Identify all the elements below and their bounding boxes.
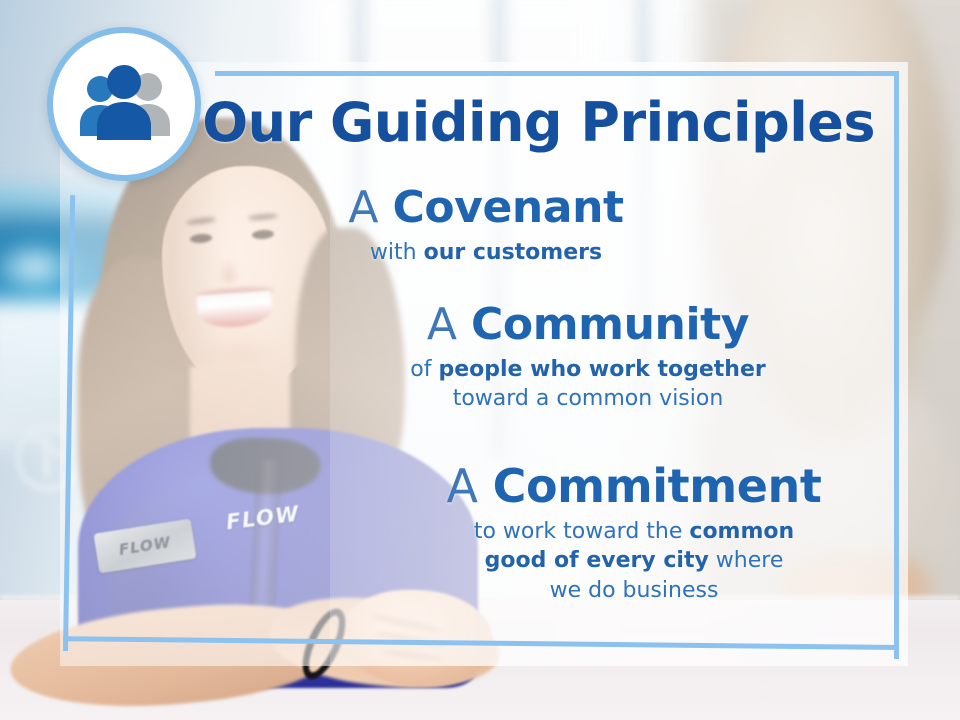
description-line: to work toward the common xyxy=(368,517,900,546)
text-content: Our Guiding Principles A Covenant with o… xyxy=(0,0,960,720)
principle-keyword: Community xyxy=(471,299,749,350)
description-line: with our customers xyxy=(256,238,716,267)
description-line: good of every city where xyxy=(368,546,900,575)
description-segment-bold: common xyxy=(689,519,794,544)
principle-article: A xyxy=(427,299,457,350)
principle-article: A xyxy=(447,459,478,513)
description-segment: of xyxy=(410,357,438,382)
page-title: Our Guiding Principles xyxy=(0,96,875,150)
principle-description: to work toward the common good of every … xyxy=(368,517,900,605)
principle-description: with our customers xyxy=(256,238,716,267)
principle-commitment: A Commitment to work toward the common g… xyxy=(368,462,900,605)
principle-article: A xyxy=(348,182,378,233)
principle-headline: A Commitment xyxy=(368,462,900,511)
principle-keyword: Covenant xyxy=(392,182,623,233)
principle-covenant: A Covenant with our customers xyxy=(256,185,716,267)
principle-description: of people who work together toward a com… xyxy=(330,355,846,414)
principle-headline: A Covenant xyxy=(256,185,716,232)
description-line: of people who work together xyxy=(330,355,846,384)
principle-community: A Community of people who work together … xyxy=(330,302,846,414)
description-line: we do business xyxy=(368,576,900,605)
description-segment: to work toward the xyxy=(474,519,690,544)
description-segment-bold: good of every city xyxy=(485,548,709,573)
description-segment: with xyxy=(370,240,424,265)
description-segment-bold: people who work together xyxy=(438,357,765,382)
description-line: toward a common vision xyxy=(330,384,846,413)
promotional-graphic: FLOW FLOW xyxy=(0,0,960,720)
principle-keyword: Commitment xyxy=(493,459,822,513)
description-segment-bold: our customers xyxy=(424,240,603,265)
description-segment: where xyxy=(709,548,784,573)
principle-headline: A Community xyxy=(330,302,846,349)
